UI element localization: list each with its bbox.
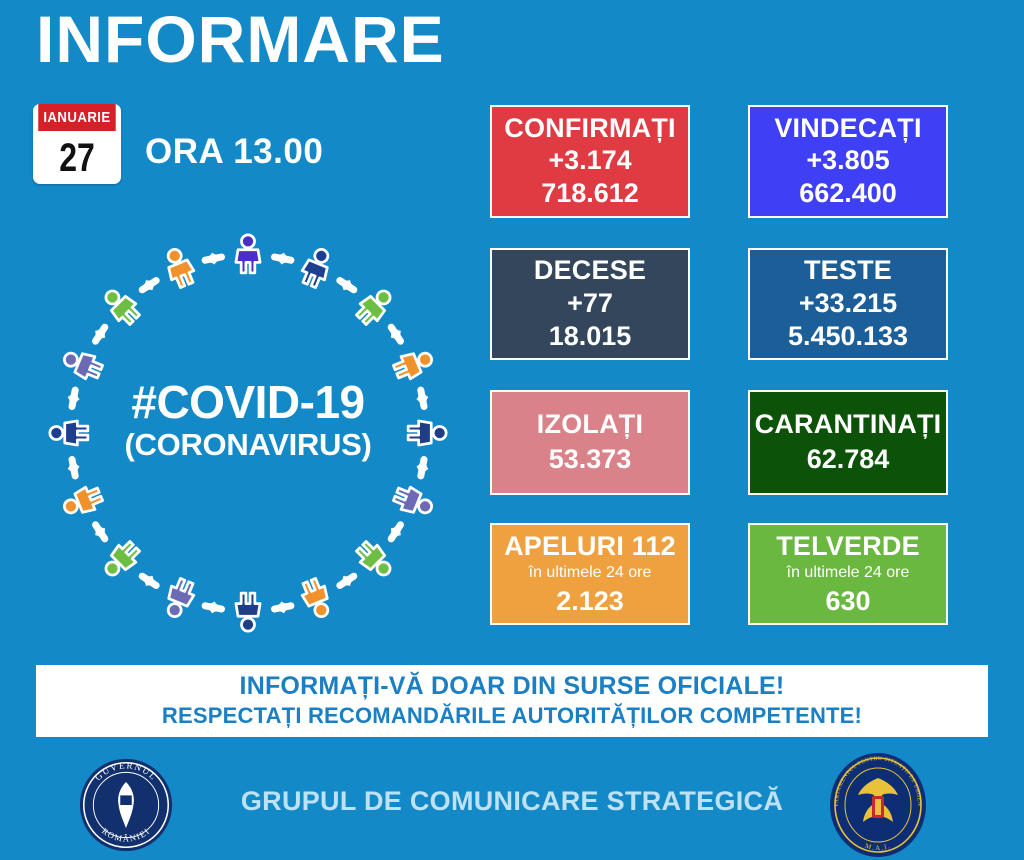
calendar-month-label: IANUARIE bbox=[38, 104, 115, 131]
stat-card-teste: TESTE +33.215 5.450.133 bbox=[748, 248, 948, 360]
stat-total: 662.400 bbox=[799, 177, 897, 210]
page-title: INFORMARE bbox=[36, 6, 445, 72]
stat-label: CARANTINAȚI bbox=[755, 409, 942, 441]
stat-total: 18.015 bbox=[549, 320, 632, 353]
stat-card-izolati: IZOLAȚI 53.373 bbox=[490, 390, 690, 495]
stat-card-telverde: TELVERDE în ultimele 24 ore 630 bbox=[748, 523, 948, 625]
stat-sublabel: în ultimele 24 ore bbox=[787, 563, 910, 582]
stat-total: 630 bbox=[825, 585, 870, 618]
stat-total: 5.450.133 bbox=[788, 320, 908, 353]
stat-card-apeluri-112: APELURI 112 în ultimele 24 ore 2.123 bbox=[490, 523, 690, 625]
stat-label: DECESE bbox=[534, 255, 646, 287]
informare-poster: INFORMARE IANUARIE 27 ORA 13.00 #COVID-1… bbox=[0, 0, 1024, 860]
footer-organisation-label: GRUPUL DE COMUNICARE STRATEGICĂ bbox=[0, 786, 1024, 817]
stat-card-carantinati: CARANTINAȚI 62.784 bbox=[748, 390, 948, 495]
hour-label: ORA 13.00 bbox=[145, 132, 323, 172]
calendar-badge: IANUARIE 27 bbox=[33, 104, 121, 184]
stat-card-confirmati: CONFIRMAȚI +3.174 718.612 bbox=[490, 105, 690, 218]
stat-total: 718.612 bbox=[541, 177, 639, 210]
stat-label: TESTE bbox=[804, 255, 892, 287]
stat-card-vindecati: VINDECAȚI +3.805 662.400 bbox=[748, 105, 948, 218]
calendar-day-label: 27 bbox=[42, 131, 112, 184]
stat-label: CONFIRMAȚI bbox=[504, 113, 675, 145]
social-distancing-illustration: #COVID-19 (CORONAVIRUS) bbox=[28, 218, 468, 648]
stat-total: 62.784 bbox=[807, 443, 890, 476]
stat-label: VINDECAȚI bbox=[774, 113, 921, 145]
stat-label: APELURI 112 bbox=[504, 531, 676, 563]
stat-delta: +77 bbox=[567, 287, 613, 320]
stat-label: IZOLAȚI bbox=[537, 409, 643, 441]
stat-total: 53.373 bbox=[549, 443, 632, 476]
people-ring-icon bbox=[50, 235, 446, 631]
official-sources-banner: INFORMAȚI-VĂ DOAR DIN SURSE OFICIALE! RE… bbox=[36, 665, 988, 737]
stat-delta: +33.215 bbox=[799, 287, 897, 320]
stat-sublabel: în ultimele 24 ore bbox=[529, 563, 652, 582]
stat-label: TELVERDE bbox=[776, 531, 920, 563]
banner-line-2: RESPECTAȚI RECOMANDĂRILE AUTORITĂȚILOR C… bbox=[162, 703, 862, 729]
stat-total: 2.123 bbox=[556, 585, 624, 618]
banner-line-1: INFORMAȚI-VĂ DOAR DIN SURSE OFICIALE! bbox=[240, 672, 785, 701]
stat-card-decese: DECESE +77 18.015 bbox=[490, 248, 690, 360]
stat-delta: +3.174 bbox=[548, 144, 631, 177]
stat-delta: +3.805 bbox=[806, 144, 889, 177]
